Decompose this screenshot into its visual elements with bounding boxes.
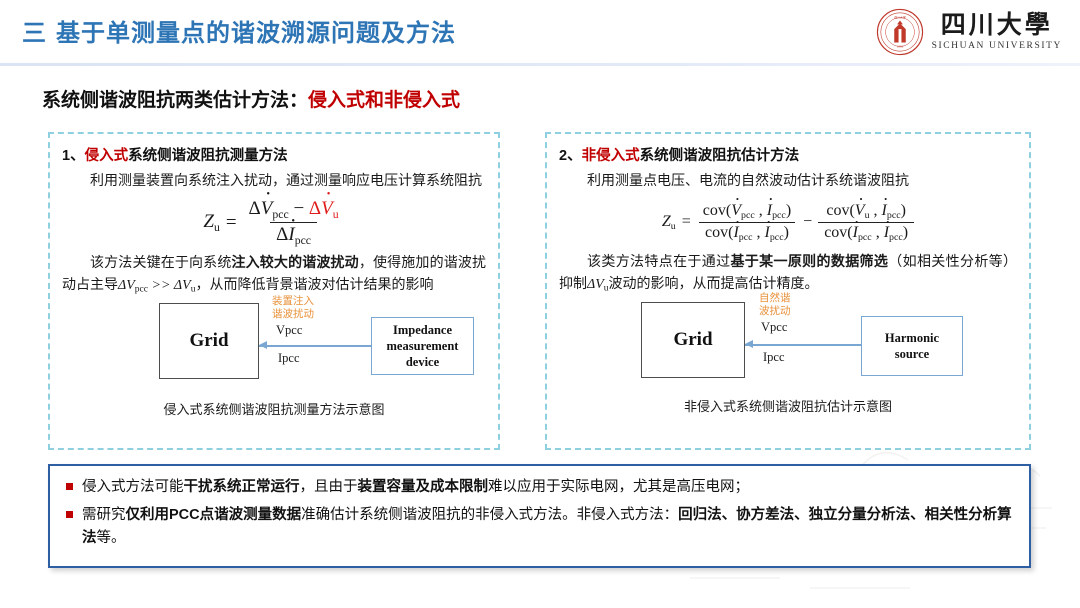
section-title-accent: 侵入式和非侵入式 — [308, 90, 460, 111]
formula-right-den-1: cov(Ipcc , Ipcc) — [699, 222, 795, 243]
panel-left-heading-prefix: 1、 — [62, 148, 85, 164]
conclusion-bullet-2: 需研究仅利用PCC点谐波测量数据准确估计系统侧谐波阻抗的非侵入式方法。非侵入式方… — [64, 504, 1013, 549]
panel-left-heading: 1、侵入式系统侧谐波阻抗测量方法 — [62, 144, 486, 165]
university-logo-text: 四川大學 SICHUAN UNIVERSITY — [932, 13, 1062, 51]
diagram-left-arrow-icon — [259, 341, 267, 349]
diagram-right-arrow-icon — [745, 340, 753, 348]
diagram-left-ipcc-label: Ipcc — [278, 351, 300, 366]
formula-left-equals: = — [226, 212, 237, 234]
panel-right-heading-accent: 非侵入式 — [582, 148, 640, 164]
diagram-left-grid-box: Grid — [159, 303, 259, 379]
formula-intrusive-impedance: Zu = ΔVpcc − ΔVu ΔIpcc — [62, 198, 486, 249]
slide-header: 三基于单测量点的谐波溯源问题及方法 1896 四川大学 四川大學 SICHUAN… — [0, 0, 1080, 64]
svg-text:1896: 1896 — [896, 44, 903, 48]
page-title-number: 三 — [22, 20, 47, 47]
panel-right-heading-prefix: 2、 — [559, 148, 582, 164]
panel-left-paragraph-1: 利用测量装置向系统注入扰动，通过测量响应电压计算系统阻抗 — [62, 170, 486, 192]
diagram-right-grid-box: Grid — [641, 302, 745, 378]
diagram-right-annotation: 自然谐波扰动 — [759, 292, 791, 318]
diagram-right-connection-line — [745, 344, 861, 345]
panel-intrusive-method: 1、侵入式系统侧谐波阻抗测量方法 利用测量装置向系统注入扰动，通过测量响应电压计… — [48, 132, 500, 450]
bullet-square-icon — [66, 511, 73, 518]
diagram-right-vpcc-label: Vpcc — [761, 320, 787, 335]
formula-right-den-2: cov(Ipcc , Ipcc) — [818, 222, 914, 243]
page-title-text: 基于单测量点的谐波溯源问题及方法 — [56, 20, 456, 47]
panel-right-caption: 非侵入式系统侧谐波阻抗估计示意图 — [559, 396, 1017, 415]
section-title-plain: 系统侧谐波阻抗两类估计方法： — [42, 90, 308, 111]
formula-left-denominator: ΔIpcc — [270, 222, 317, 248]
formula-right-fraction-2: cov(Vu , Ipcc) cov(Ipcc , Ipcc) — [818, 202, 914, 243]
university-name-en: SICHUAN UNIVERSITY — [932, 41, 1062, 51]
formula-right-equals: = — [682, 213, 691, 231]
bullet-square-icon — [66, 483, 73, 490]
panel-right-paragraph-1: 利用测量点电压、电流的自然波动估计系统谐波阻抗 — [559, 170, 1017, 192]
panel-left-heading-accent: 侵入式 — [85, 148, 129, 164]
formula-left-lhs: Zu — [203, 211, 219, 235]
university-name-cn: 四川大學 — [941, 13, 1053, 39]
panel-non-intrusive-method: 2、非侵入式系统侧谐波阻抗估计方法 利用测量点电压、电流的自然波动估计系统谐波阻… — [545, 132, 1031, 450]
svg-text:四川大学: 四川大学 — [894, 15, 906, 20]
section-title: 系统侧谐波阻抗两类估计方法：侵入式和非侵入式 — [42, 85, 460, 112]
diagram-left-connection-line — [259, 345, 371, 346]
diagram-right-source-box: Harmonicsource — [861, 316, 963, 376]
slide-root: 三基于单测量点的谐波溯源问题及方法 1896 四川大学 四川大學 SICHUAN… — [0, 0, 1080, 608]
sichuan-university-seal-icon: 1896 四川大学 — [876, 8, 924, 56]
panel-right-p2-a: 该类方法特点在于通过 — [587, 253, 730, 269]
formula-right-lhs: Zu — [662, 213, 676, 232]
panel-left-p2-bold: 注入较大的谐波扰动 — [231, 254, 358, 270]
diagram-right-ipcc-label: Ipcc — [763, 350, 785, 365]
formula-right-num-2: cov(Vu , Ipcc) — [820, 202, 912, 222]
panel-right-heading-rest: 系统侧谐波阻抗估计方法 — [640, 148, 800, 164]
panel-left-paragraph-2: 该方法关键在于向系统注入较大的谐波扰动，使得施加的谐波扰动占主导ΔVpcc >>… — [62, 252, 486, 297]
diagram-left-vpcc-label: Vpcc — [276, 323, 302, 338]
panel-left-p2-c: ，从而降低背景谐波对估计结果的影响 — [195, 276, 433, 292]
header-divider — [0, 63, 1080, 66]
panel-right-p2-bold: 基于某一原则的数据筛选 — [730, 253, 888, 269]
panel-right-p2-c: 波动的影响，从而提高估计精度。 — [609, 275, 819, 291]
panel-right-p2-math: ΔVu — [587, 277, 609, 292]
formula-right-num-1: cov(Vpcc , Ipcc) — [697, 202, 797, 222]
formula-right-fraction-1: cov(Vpcc , Ipcc) cov(Ipcc , Ipcc) — [697, 202, 797, 243]
conclusion-bullet-1-text: 侵入式方法可能干扰系统正常运行，且由于装置容量及成本限制难以应用于实际电网，尤其… — [82, 476, 749, 498]
conclusion-bullet-2-text: 需研究仅利用PCC点谐波测量数据准确估计系统侧谐波阻抗的非侵入式方法。非侵入式方… — [82, 504, 1013, 549]
diagram-non-intrusive: Grid 自然谐波扰动 Vpcc Ipcc Harmonicsource — [559, 298, 1017, 394]
page-title: 三基于单测量点的谐波溯源问题及方法 — [22, 13, 456, 48]
diagram-left-annotation: 装置注入谐波扰动 — [272, 295, 314, 321]
conclusion-bullet-1: 侵入式方法可能干扰系统正常运行，且由于装置容量及成本限制难以应用于实际电网，尤其… — [64, 476, 1013, 498]
university-logo: 1896 四川大学 四川大學 SICHUAN UNIVERSITY — [876, 8, 1062, 56]
formula-non-intrusive-impedance: Zu = cov(Vpcc , Ipcc) cov(Ipcc , Ipcc) −… — [559, 202, 1017, 243]
panel-left-caption: 侵入式系统侧谐波阻抗测量方法示意图 — [62, 399, 486, 418]
diagram-intrusive: Grid 装置注入谐波扰动 Vpcc Ipcc Impedancemeasure… — [62, 301, 486, 397]
panel-right-heading: 2、非侵入式系统侧谐波阻抗估计方法 — [559, 144, 1017, 165]
formula-left-fraction: ΔVpcc − ΔVu ΔIpcc — [243, 198, 345, 249]
diagram-left-device-box: Impedancemeasurementdevice — [371, 317, 474, 375]
panel-left-p2-math: ΔVpcc >> ΔVu — [118, 278, 195, 293]
conclusion-box: 侵入式方法可能干扰系统正常运行，且由于装置容量及成本限制难以应用于实际电网，尤其… — [48, 464, 1031, 568]
panel-right-paragraph-2: 该类方法特点在于通过基于某一原则的数据筛选（如相关性分析等）抑制ΔVu波动的影响… — [559, 251, 1017, 296]
formula-right-minus: − — [803, 213, 812, 231]
panel-left-heading-rest: 系统侧谐波阻抗测量方法 — [128, 148, 288, 164]
panel-left-p2-a: 该方法关键在于向系统 — [90, 254, 231, 270]
